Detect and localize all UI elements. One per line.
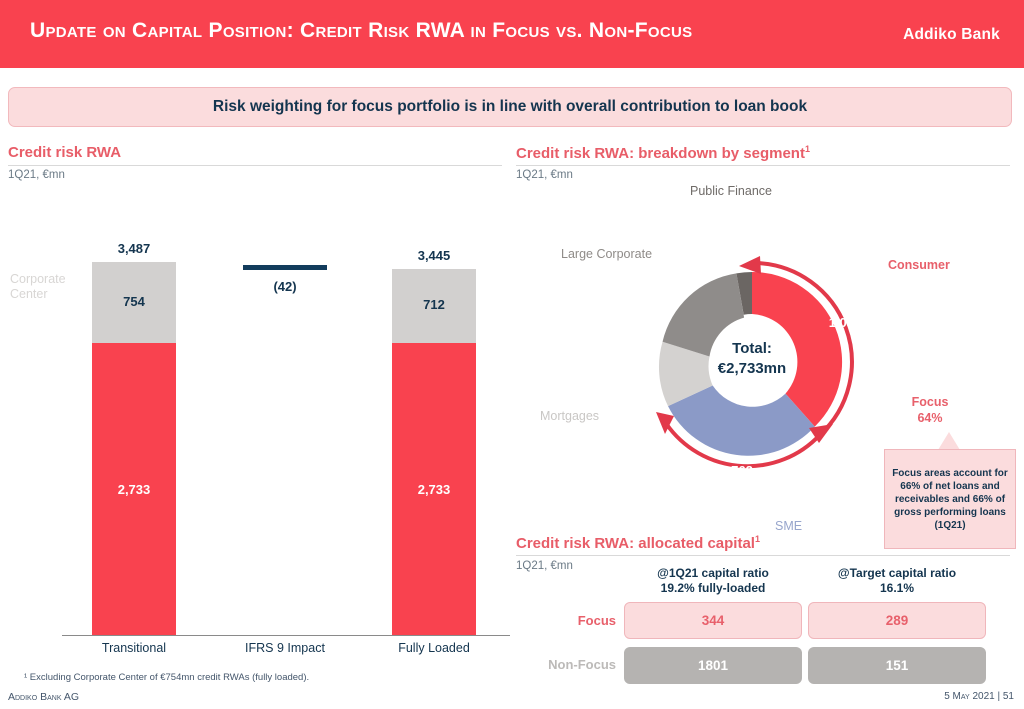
focus-annotation-label: Focus: [895, 394, 965, 410]
bar-category-ifrs9-impact: IFRS 9 Impact: [233, 641, 337, 655]
capital-section-title-footnote-marker: 1: [755, 534, 760, 544]
bar-value-corporate-center-transitional: 754: [92, 294, 176, 309]
capital-section-subtitle: 1Q21, €mn: [516, 560, 573, 572]
key-message-text: Risk weighting for focus portfolio is in…: [213, 98, 807, 116]
capital-column-header-2: @Target capital ratio 16.1%: [808, 566, 986, 596]
capital-cell-focus-1q21: 344: [624, 602, 802, 639]
donut-label-mortgages: Mortgages: [540, 409, 599, 424]
capital-section-title-text: Credit risk RWA: allocated capital: [516, 535, 755, 552]
donut-center-total-line2: €2,733mn: [700, 359, 804, 379]
right-section-rule: [516, 165, 1010, 166]
footer-company: Addiko Bank AG: [8, 691, 79, 703]
right-section-title-footnote-marker: 1: [805, 144, 810, 154]
callout-pointer: [938, 432, 960, 450]
right-section-subtitle: 1Q21, €mn: [516, 169, 573, 181]
donut-label-sme: SME: [775, 519, 802, 534]
focus-annotation-value: 64%: [895, 410, 965, 426]
donut-center-total: Total: €2,733mn: [700, 339, 804, 379]
footer-date-page: 5 May 2021 | 51: [944, 691, 1014, 702]
bar-value-corporate-center-fully-loaded: 712: [392, 297, 476, 312]
capital-cell-non-focus-target: 151: [808, 647, 986, 684]
capital-column-header-1-line2: 19.2% fully-loaded: [624, 581, 802, 596]
capital-column-header-1-line1: @1Q21 capital ratio: [624, 566, 802, 581]
capital-row-label-focus: Focus: [540, 613, 616, 628]
bar-value-credit-risk-transitional: 2,733: [92, 482, 176, 497]
footnote: ¹ Excluding Corporate Center of €754mn c…: [24, 672, 309, 683]
bar-total-transitional: 3,487: [92, 241, 176, 256]
bar-category-fully-loaded: Fully Loaded: [382, 641, 486, 655]
page-title: Update on Capital Position: Credit Risk …: [30, 19, 692, 43]
right-section-title: Credit risk RWA: breakdown by segment1: [516, 144, 810, 162]
capital-cell-focus-target: 289: [808, 602, 986, 639]
capital-section-title: Credit risk RWA: allocated capital1: [516, 534, 760, 552]
left-section-rule: [8, 165, 502, 166]
bar-value-ifrs9-impact: (42): [243, 279, 327, 294]
bar-total-fully-loaded: 3,445: [392, 248, 476, 263]
left-section-title: Credit risk RWA: [8, 144, 121, 161]
donut-value-sme: 762: [712, 463, 772, 478]
donut-label-consumer: Consumer: [888, 258, 950, 273]
left-section-subtitle: 1Q21, €mn: [8, 169, 65, 181]
focus-percentage-annotation: Focus 64%: [895, 394, 965, 426]
key-message-banner: Risk weighting for focus portfolio is in…: [8, 87, 1012, 127]
donut-value-mortgages: 371: [613, 372, 653, 387]
donut-label-public-finance: Public Finance: [690, 184, 756, 199]
addiko-bank-logo: Addiko Bank: [903, 26, 1000, 44]
capital-row-label-non-focus: Non-Focus: [524, 657, 616, 672]
focus-callout-text: Focus areas account for 66% of net loans…: [885, 467, 1015, 532]
bar-chart-axis-line: [62, 635, 510, 636]
donut-value-large-corporate: 494: [653, 276, 693, 291]
capital-column-header-2-line1: @Target capital ratio: [808, 566, 986, 581]
bar-category-transitional: Transitional: [82, 641, 186, 655]
right-section-title-text: Credit risk RWA: breakdown by segment: [516, 145, 805, 162]
capital-column-header-2-line2: 16.1%: [808, 581, 986, 596]
focus-callout-box: Focus areas account for 66% of net loans…: [884, 449, 1016, 549]
page-header: Update on Capital Position: Credit Risk …: [0, 0, 1024, 68]
capital-column-header-1: @1Q21 capital ratio 19.2% fully-loaded: [624, 566, 802, 596]
corporate-center-label: Corporate Center: [10, 272, 86, 302]
donut-center-total-line1: Total:: [700, 339, 804, 359]
donut-label-large-corporate: Large Corporate: [561, 247, 633, 262]
donut-value-consumer: 1,031: [815, 315, 875, 330]
donut-value-public-finance: 76: [722, 249, 756, 264]
capital-section-rule: [516, 555, 1010, 556]
capital-cell-non-focus-1q21: 1801: [624, 647, 802, 684]
bar-value-credit-risk-fully-loaded: 2,733: [392, 482, 476, 497]
bar-segment-ifrs9-impact: [243, 265, 327, 270]
